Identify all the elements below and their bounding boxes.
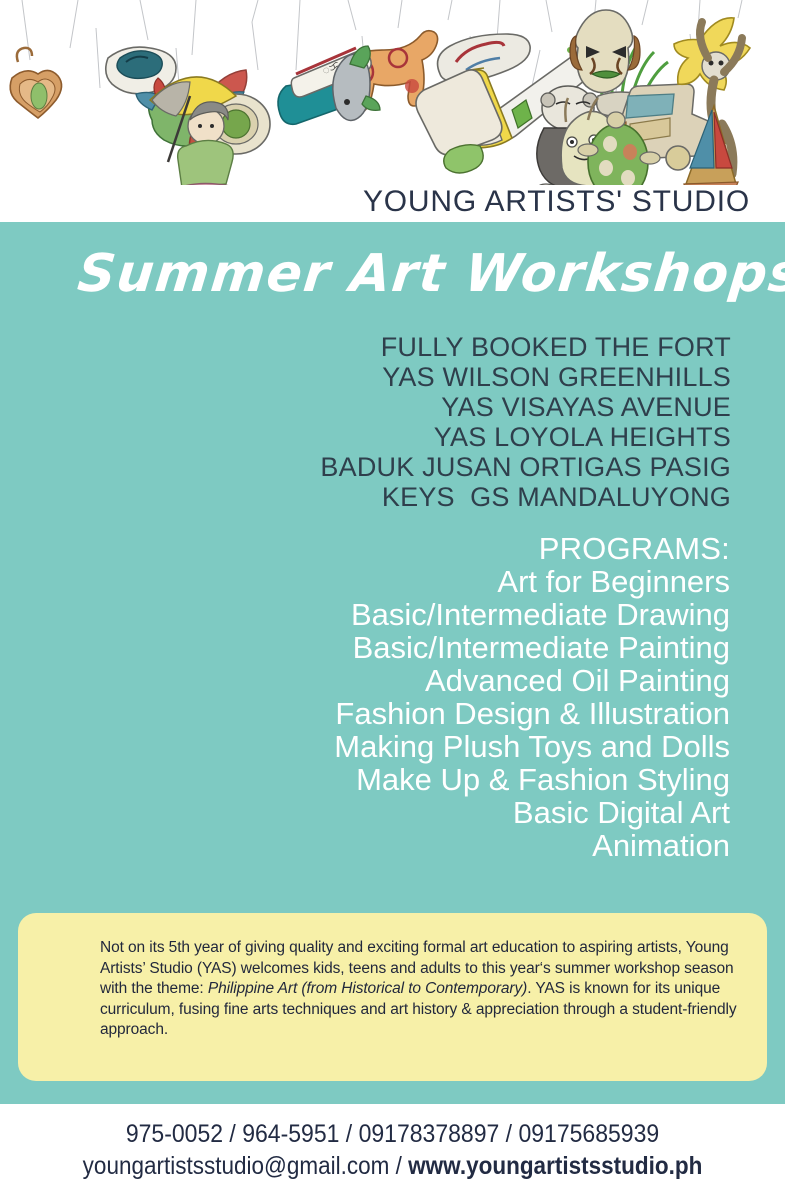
- location-item: YAS LOYOLA HEIGHTS: [0, 422, 731, 452]
- program-item: Animation: [0, 829, 730, 862]
- locations-list: FULLY BOOKED THE FORT YAS WILSON GREENHI…: [0, 332, 731, 512]
- phone-numbers: 975-0052 / 964-5951 / 09178378897 / 0917…: [31, 1120, 753, 1149]
- program-item: Basic/Intermediate Painting: [0, 631, 730, 664]
- poster-root: ᜀᜃ: [0, 0, 785, 1200]
- email-address[interactable]: youngartistsstudio@gmail.com: [83, 1152, 390, 1180]
- workshop-script-title: Summer Art Workshops 2014: [75, 244, 785, 304]
- description-theme: Philippine Art (from Historical to Conte…: [208, 980, 527, 997]
- program-item: Make Up & Fashion Styling: [0, 763, 730, 796]
- program-item: Basic Digital Art: [0, 796, 730, 829]
- location-item: KEYS GS MANDALUYONG: [0, 482, 731, 512]
- program-item: Advanced Oil Painting: [0, 664, 730, 697]
- footer-contact: 975-0052 / 964-5951 / 09178378897 / 0917…: [0, 1104, 785, 1200]
- programs-heading: PROGRAMS:: [0, 532, 730, 565]
- location-item: FULLY BOOKED THE FORT: [0, 332, 731, 362]
- website-url[interactable]: www.youngartistsstudio.ph: [408, 1152, 702, 1180]
- location-item: YAS VISAYAS AVENUE: [0, 392, 731, 422]
- location-item: BADUK JUSAN ORTIGAS PASIG: [0, 452, 731, 482]
- studio-title: YOUNG ARTISTS' STUDIO: [0, 185, 750, 219]
- program-item: Art for Beginners: [0, 565, 730, 598]
- program-item: Making Plush Toys and Dolls: [0, 730, 730, 763]
- description-card: Not on its 5th year of giving quality an…: [18, 913, 767, 1081]
- hanging-paper-ornaments-illustration: ᜀᜃ: [0, 0, 785, 185]
- header-banner: ᜀᜃ: [0, 0, 785, 222]
- location-item: YAS WILSON GREENHILLS: [0, 362, 731, 392]
- programs-list: PROGRAMS: Art for Beginners Basic/Interm…: [0, 532, 730, 862]
- program-item: Fashion Design & Illustration: [0, 697, 730, 730]
- email-and-website: youngartistsstudio@gmail.com / www.young…: [39, 1152, 746, 1181]
- program-item: Basic/Intermediate Drawing: [0, 598, 730, 631]
- description-paragraph: Not on its 5th year of giving quality an…: [100, 938, 740, 1041]
- separator: /: [389, 1152, 408, 1180]
